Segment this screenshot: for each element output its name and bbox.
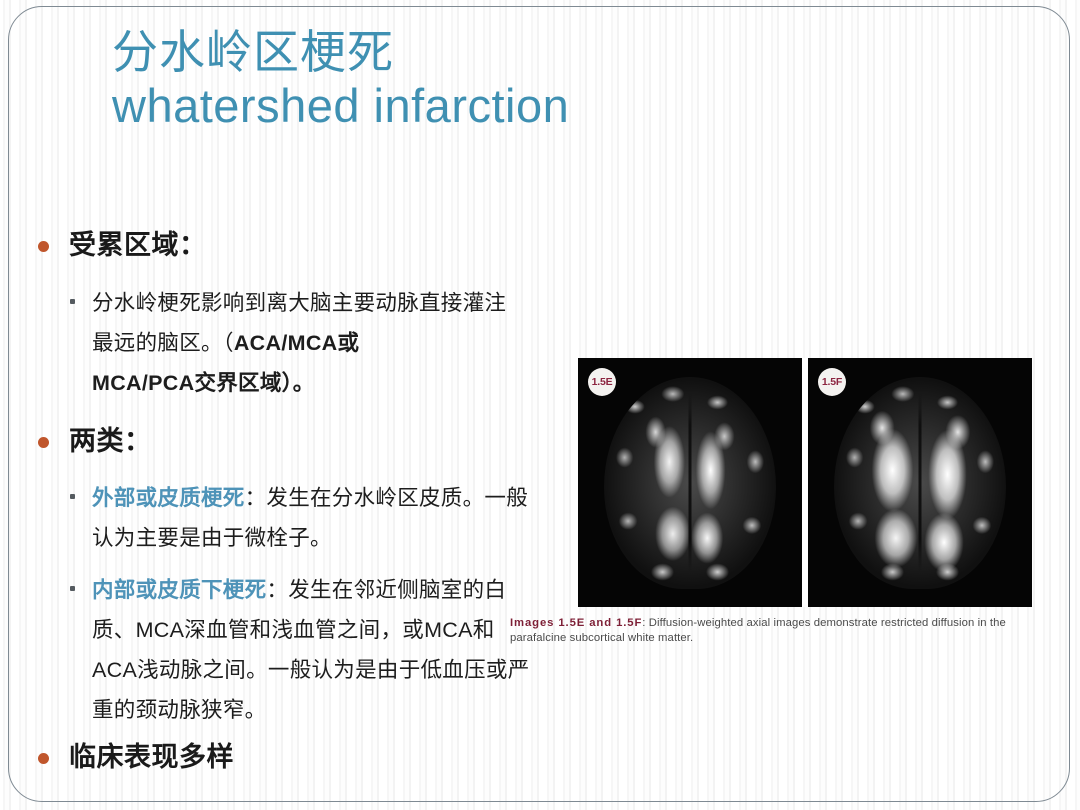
bullet-clinical-presentation: 临床表现多样 [38, 740, 234, 774]
bullet-dot-icon [38, 437, 49, 448]
sub-bullet-dot-icon [70, 586, 75, 591]
brain-axial-slice-image [834, 377, 1006, 589]
panel-label-badge: 1.5E [588, 368, 616, 396]
text-mca-pca: MCA/PCA [92, 371, 194, 395]
term-external-cortical-infarct: 外部或皮质梗死 [92, 486, 245, 510]
title-english: whatershed infarction [112, 78, 912, 134]
sub-bullet-text: 分水岭梗死影响到离大脑主要动脉直接灌注最远的脑区。（ACA/MCA或MCA/PC… [92, 283, 510, 403]
mri-figure: 1.5E 1.5F Images 1.5E and 1.5F: Diffusio… [578, 358, 1033, 645]
bullet-affected-regions: 受累区域： [38, 228, 207, 262]
figure-caption: Images 1.5E and 1.5F: Diffusion-weighted… [510, 616, 1030, 645]
sub-bullet-affected-regions-detail: 分水岭梗死影响到离大脑主要动脉直接灌注最远的脑区。（ACA/MCA或MCA/PC… [70, 283, 510, 403]
sub-bullet-internal-subcortical-infarct: 内部或皮质下梗死：发生在邻近侧脑室的白质、MCA深血管和浅血管之间，或MCA和A… [70, 570, 530, 730]
mri-panel-row: 1.5E 1.5F [578, 358, 1033, 607]
text-plain-suffix: 交界区域）。 [194, 371, 314, 395]
panel-label-badge: 1.5F [818, 368, 846, 396]
slide: 分水岭区梗死 whatershed infarction 受累区域： 分水岭梗死… [0, 0, 1080, 810]
bullet-dot-icon [38, 241, 49, 252]
bullet-heading-label: 受累区域： [69, 228, 207, 262]
sub-bullet-text: 外部或皮质梗死：发生在分水岭区皮质。一般认为主要是由于微栓子。 [92, 478, 530, 558]
mri-panel-1-5e: 1.5E [578, 358, 802, 607]
term-internal-subcortical-infarct: 内部或皮质下梗死 [92, 578, 266, 602]
slide-title: 分水岭区梗死 whatershed infarction [112, 26, 912, 134]
sub-bullet-dot-icon [70, 299, 75, 304]
text-aca-mca: ACA/MCA [234, 331, 338, 355]
sub-bullet-text: 内部或皮质下梗死：发生在邻近侧脑室的白质、MCA深血管和浅血管之间，或MCA和A… [92, 570, 530, 730]
text-conjunction: 或 [337, 331, 359, 355]
bullet-heading-label: 临床表现多样 [69, 740, 234, 774]
caption-lead-label: Images 1.5E and 1.5F [510, 617, 642, 629]
bullet-dot-icon [38, 753, 49, 764]
brain-axial-slice-image [604, 377, 776, 589]
midline-falx-marker [689, 393, 692, 571]
bullet-two-types: 两类： [38, 424, 152, 458]
sub-bullet-dot-icon [70, 494, 75, 499]
title-chinese: 分水岭区梗死 [112, 26, 912, 78]
bullet-heading-label: 两类： [69, 424, 152, 458]
mri-panel-1-5f: 1.5F [808, 358, 1032, 607]
midline-falx-marker [919, 393, 922, 571]
sub-bullet-external-cortical-infarct: 外部或皮质梗死：发生在分水岭区皮质。一般认为主要是由于微栓子。 [70, 478, 530, 558]
